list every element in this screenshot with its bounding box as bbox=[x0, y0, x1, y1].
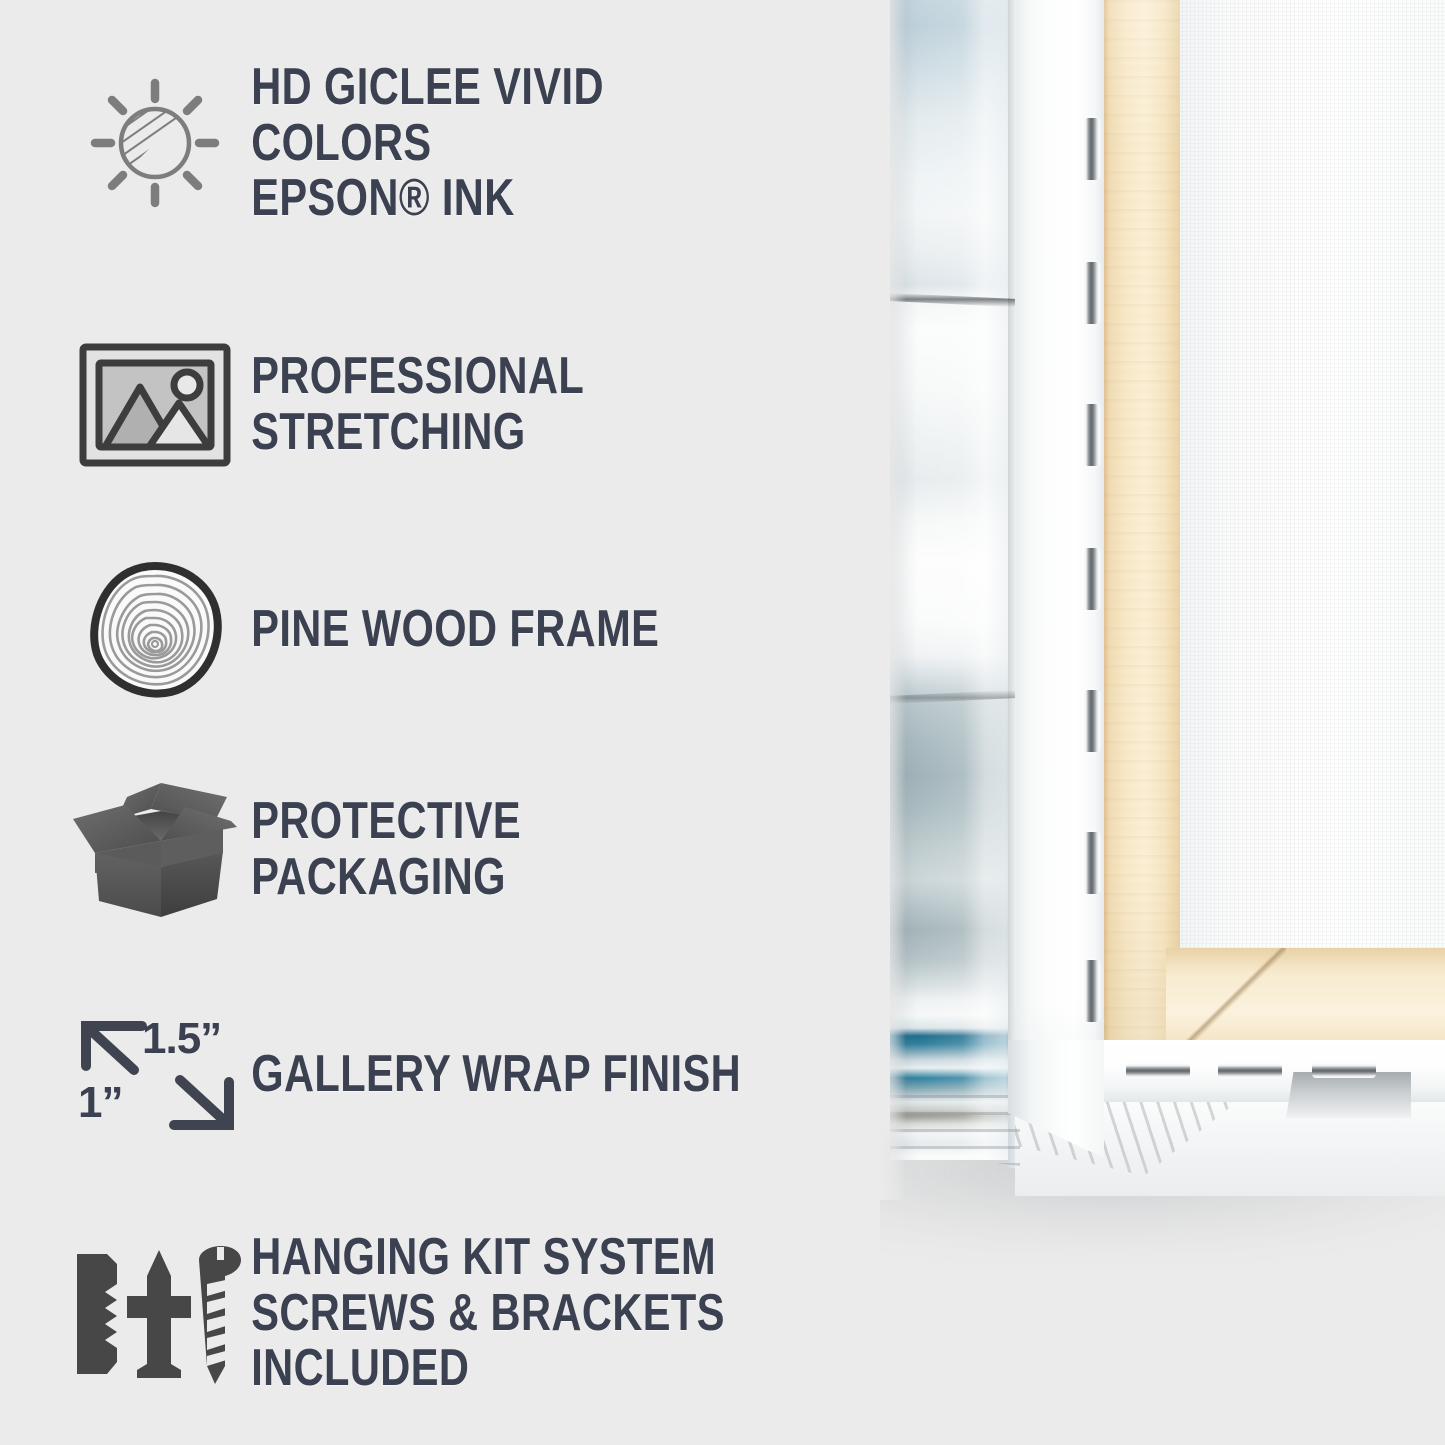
staple bbox=[1126, 1063, 1190, 1078]
feature-label: PROFESSIONAL STRETCHING bbox=[240, 349, 768, 460]
sun-rays-icon bbox=[70, 68, 240, 218]
feature-label: HD GICLEE VIVID COLORS EPSON® INK bbox=[240, 60, 768, 227]
feature-label: PINE WOOD FRAME bbox=[240, 602, 659, 658]
feature-row-gallery-wrap-finish: 1.5” 1” GALLERY WRAP FINISH bbox=[70, 1000, 900, 1150]
feature-row-hanging-kit: HANGING KIT SYSTEM SCREWS & BRACKETS INC… bbox=[70, 1230, 900, 1397]
staple bbox=[1083, 118, 1100, 180]
feature-list: HD GICLEE VIVID COLORS EPSON® INK PROFES… bbox=[0, 0, 900, 1445]
staple bbox=[1083, 690, 1100, 752]
dimension-label-width: 1” bbox=[78, 1078, 122, 1128]
canvas-backing-fabric bbox=[1178, 0, 1445, 1048]
feature-row-hd-giclee: HD GICLEE VIVID COLORS EPSON® INK bbox=[70, 60, 900, 227]
feature-label: GALLERY WRAP FINISH bbox=[240, 1047, 741, 1103]
staple bbox=[1083, 960, 1100, 1022]
staple bbox=[1083, 832, 1100, 894]
photo-bottom-fade bbox=[880, 1145, 1445, 1445]
dimension-arrows-icon: 1.5” 1” bbox=[70, 1000, 240, 1150]
feature-row-pine-wood-frame: PINE WOOD FRAME bbox=[70, 555, 900, 705]
feature-row-protective-packaging: PROTECTIVE PACKAGING bbox=[70, 775, 900, 925]
open-box-icon bbox=[70, 775, 240, 925]
frame-inner-gap bbox=[1286, 1072, 1411, 1118]
staple bbox=[1083, 548, 1100, 610]
canvas-back-detail-photo bbox=[880, 0, 1445, 1445]
printed-wrapped-edge bbox=[890, 0, 1015, 1160]
infographic-canvas: HD GICLEE VIVID COLORS EPSON® INK PROFES… bbox=[0, 0, 1445, 1445]
feature-label: HANGING KIT SYSTEM SCREWS & BRACKETS INC… bbox=[240, 1230, 768, 1397]
staple bbox=[1083, 404, 1100, 466]
hanging-hardware-icon bbox=[70, 1238, 240, 1388]
wood-rings-icon bbox=[70, 555, 240, 705]
staple bbox=[1218, 1063, 1282, 1078]
feature-label: PROTECTIVE PACKAGING bbox=[240, 794, 768, 905]
pine-stretcher-bar-vertical bbox=[1102, 0, 1180, 1090]
dimension-label-depth: 1.5” bbox=[142, 1014, 221, 1064]
staple bbox=[1312, 1063, 1376, 1078]
picture-frame-icon bbox=[70, 330, 240, 480]
feature-row-professional-stretching: PROFESSIONAL STRETCHING bbox=[70, 330, 900, 480]
staple bbox=[1083, 262, 1100, 324]
